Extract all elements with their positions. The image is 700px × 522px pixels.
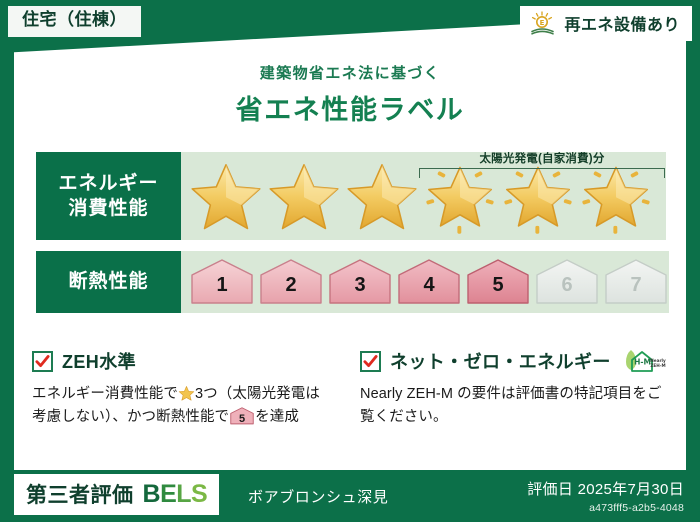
- heading-title: 省エネ性能ラベル: [14, 88, 686, 127]
- insulation-row-label-text: 断熱性能: [68, 269, 148, 294]
- insulation-row-body: 1 2 3 4 5: [181, 251, 669, 313]
- net-zero-criteria-body: Nearly ZEH-M の要件は評価書の特記項目をご覧ください。: [360, 383, 668, 430]
- grade-badge-4: 4: [396, 258, 462, 306]
- performance-rows: エネルギー 消費性能: [36, 152, 666, 324]
- zeh-body-part1: エネルギー消費性能で: [32, 386, 178, 402]
- star-icon-1: [187, 158, 265, 234]
- bels-logo: BELS: [143, 480, 208, 509]
- net-zero-criteria-block: ネット・ゼロ・エネルギー H-M Nearly ZEH-M Nearly ZEH…: [350, 348, 686, 430]
- insulation-performance-row: 断熱性能 1 2 3: [36, 251, 666, 313]
- grade-badge-2: 2: [258, 258, 324, 306]
- third-party-label: 第三者評価: [26, 479, 134, 509]
- star-icon-5-solar: [499, 158, 577, 234]
- bels-certification-badge: 第三者評価 BELS: [14, 474, 219, 515]
- svg-text:E: E: [540, 19, 545, 27]
- insulation-row-label: 断熱性能: [36, 251, 181, 313]
- evaluation-id: a473fff5-a2b5-4048: [527, 502, 684, 514]
- grade-badge-inline: 5: [229, 407, 255, 425]
- grade-badge-6-value: 6: [534, 274, 600, 297]
- label-heading: 建築物省エネ法に基づく 省エネ性能ラベル: [14, 62, 686, 127]
- criteria-info: ZEH水準 エネルギー消費性能で3つ（太陽光発電は考慮しない）、かつ断熱性能で5…: [14, 348, 686, 430]
- building-type-tag: 住宅（住棟）: [8, 6, 141, 37]
- check-icon-net-zero: [360, 351, 381, 372]
- zeh-m-logo-icon: H-M Nearly ZEH-M: [622, 348, 668, 374]
- grade-badge-3: 3: [327, 258, 393, 306]
- energy-row-label: エネルギー 消費性能: [36, 152, 181, 240]
- check-icon-zeh: [32, 351, 53, 372]
- renewable-badge-label: 再エネ設備あり: [564, 11, 680, 35]
- zeh-criteria-block: ZEH水準 エネルギー消費性能で3つ（太陽光発電は考慮しない）、かつ断熱性能で5…: [14, 348, 350, 430]
- star-icon-6-solar: [577, 158, 655, 234]
- building-name: ボアブロンシュ深見: [248, 486, 388, 507]
- star-icon-3: [343, 158, 421, 234]
- zeh-body-part3: を達成: [255, 409, 299, 425]
- energy-row-label-line2: 消費性能: [68, 196, 148, 221]
- energy-performance-label: 住宅（住棟） E 再エネ設備あり 建築物省エネ法に基づく 省エネ性能ラベル: [0, 0, 700, 522]
- sun-icon: E: [530, 11, 556, 35]
- star-rating: [181, 158, 666, 234]
- svg-text:ZEH-M: ZEH-M: [650, 363, 665, 368]
- svg-text:H-M: H-M: [634, 358, 651, 367]
- grade-badge-6: 6: [534, 258, 600, 306]
- grade-badge-5-value: 5: [465, 274, 531, 297]
- star-icon-2: [265, 158, 343, 234]
- grade-badge-3-value: 3: [327, 274, 393, 297]
- zeh-criteria-body: エネルギー消費性能で3つ（太陽光発電は考慮しない）、かつ断熱性能で5を達成: [32, 383, 332, 430]
- insulation-grade-scale: 1 2 3 4 5: [181, 258, 669, 306]
- evaluation-date: 評価日 2025年7月30日: [527, 478, 684, 499]
- label-footer: 第三者評価 BELS ボアブロンシュ深見 評価日 2025年7月30日 a473…: [0, 470, 700, 522]
- energy-performance-row: エネルギー 消費性能: [36, 152, 666, 240]
- star-icon-inline: [178, 385, 195, 401]
- grade-badge-4-value: 4: [396, 274, 462, 297]
- grade-badge-1-value: 1: [189, 274, 255, 297]
- energy-row-label-line1: エネルギー: [58, 171, 158, 196]
- grade-badge-1: 1: [189, 258, 255, 306]
- heading-subtitle: 建築物省エネ法に基づく: [14, 62, 686, 83]
- zeh-criteria-title: ZEH水準: [62, 348, 136, 374]
- energy-row-body: 太陽光発電(自家消費)分: [181, 152, 666, 240]
- evaluation-info: 評価日 2025年7月30日 a473fff5-a2b5-4048: [527, 478, 684, 514]
- net-zero-criteria-header: ネット・ゼロ・エネルギー H-M Nearly ZEH-M: [360, 348, 668, 374]
- grade-badge-5: 5: [465, 258, 531, 306]
- grade-badge-2-value: 2: [258, 274, 324, 297]
- zeh-criteria-header: ZEH水準: [32, 348, 332, 374]
- grade-badge-7-value: 7: [603, 274, 669, 297]
- net-zero-criteria-title: ネット・ゼロ・エネルギー: [390, 348, 611, 374]
- grade-badge-7: 7: [603, 258, 669, 306]
- renewable-energy-badge: E 再エネ設備あり: [520, 6, 692, 41]
- grade-badge-inline-value: 5: [229, 411, 255, 429]
- star-icon-4-solar: [421, 158, 499, 234]
